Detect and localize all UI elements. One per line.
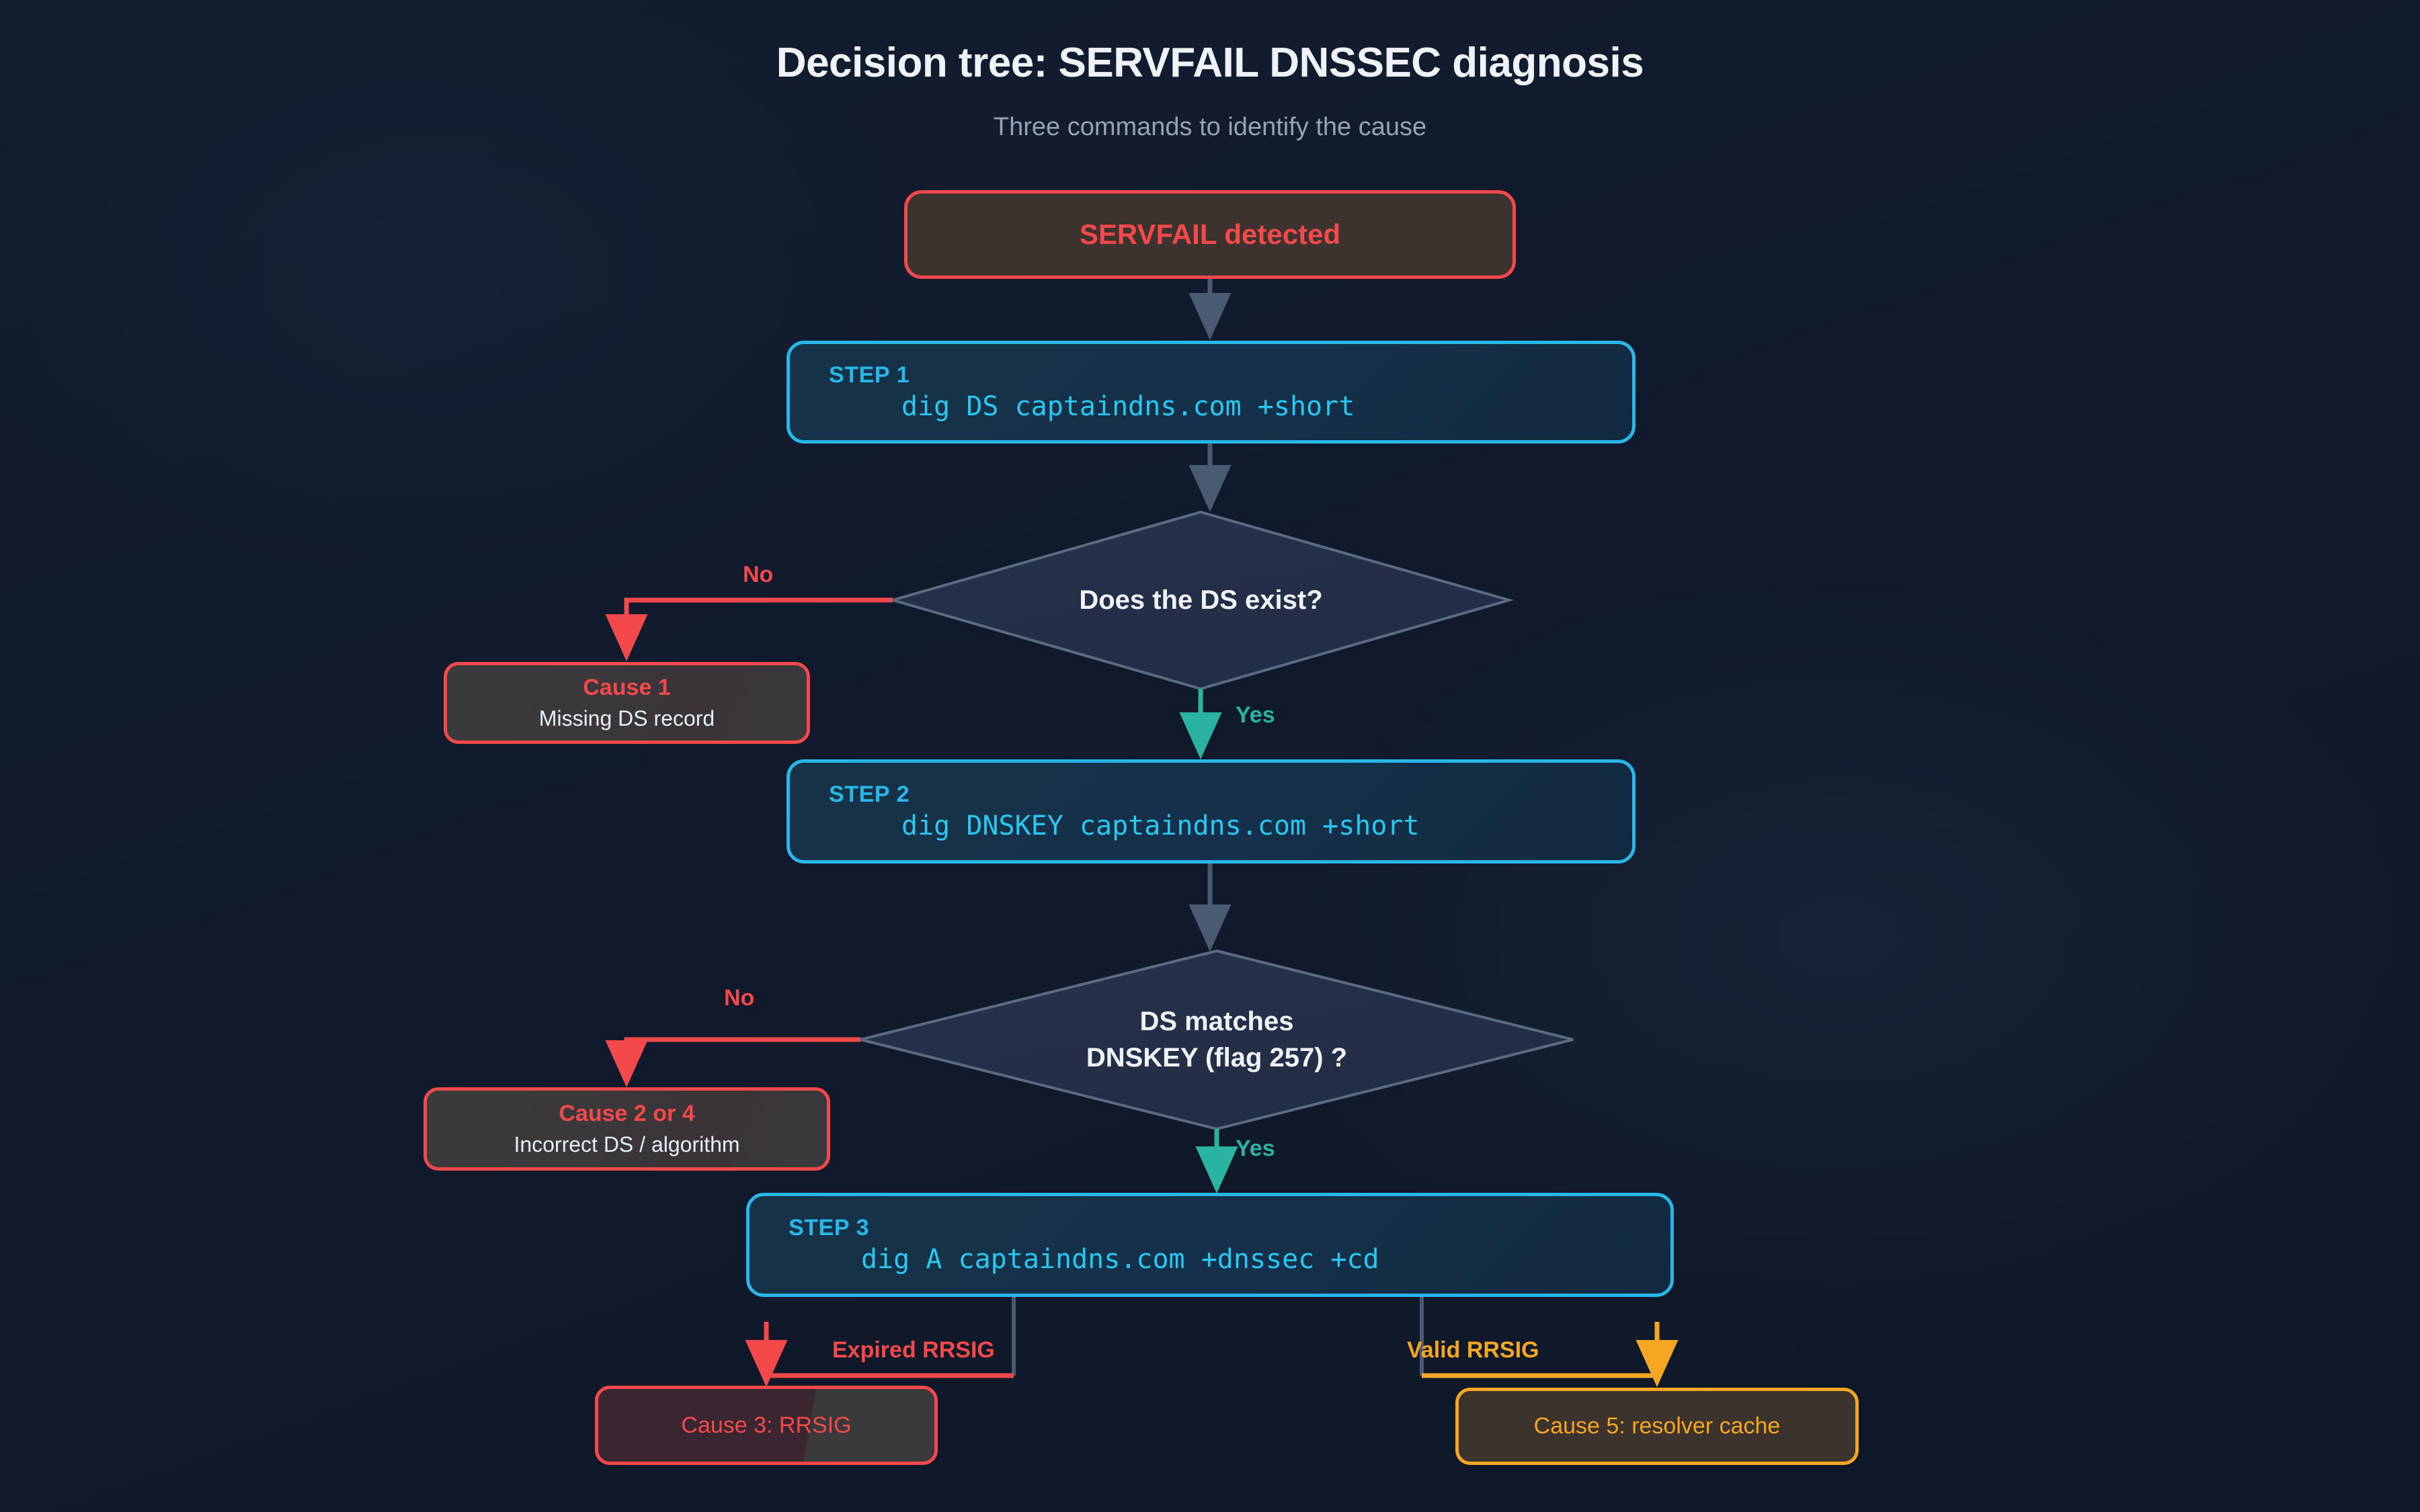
cause-5-title: Cause 5: resolver cache bbox=[1534, 1413, 1781, 1439]
step-1-command: dig DS captaindns.com +short bbox=[901, 391, 1355, 422]
edge-label-valid-rrsig: Valid RRSIG bbox=[1407, 1337, 1539, 1363]
node-cause-1[interactable]: Cause 1 Missing DS record bbox=[444, 662, 810, 744]
edge-label-yes-1: Yes bbox=[1236, 702, 1275, 728]
step-3-command: dig A captaindns.com +dnssec +cd bbox=[861, 1244, 1379, 1275]
decision-2-question-line2: DNSKEY (flag 257) ? bbox=[1086, 1040, 1347, 1076]
edge-step3-expired-to-cause3 bbox=[766, 1376, 1014, 1376]
page-title: Decision tree: SERVFAIL DNSSEC diagnosis bbox=[0, 39, 2420, 87]
node-servfail-detected[interactable]: SERVFAIL detected bbox=[904, 190, 1516, 279]
step-2-kicker: STEP 2 bbox=[829, 782, 910, 808]
edge-decision2-no-to-cause24 bbox=[627, 1040, 860, 1078]
edge-label-no-2: No bbox=[724, 985, 754, 1011]
step-3-kicker: STEP 3 bbox=[789, 1215, 869, 1241]
edge-label-no-1: No bbox=[743, 562, 773, 588]
cause-2-or-4-title: Cause 2 or 4 bbox=[559, 1101, 694, 1127]
node-servfail-label: SERVFAIL detected bbox=[1080, 218, 1340, 251]
edge-label-yes-2: Yes bbox=[1236, 1136, 1275, 1162]
node-step-3[interactable]: STEP 3 dig A captaindns.com +dnssec +cd bbox=[746, 1193, 1674, 1297]
node-step-1[interactable]: STEP 1 dig DS captaindns.com +short bbox=[787, 341, 1636, 444]
decision-2-question: DS matches DNSKEY (flag 257) ? bbox=[860, 976, 1573, 1103]
node-step-2[interactable]: STEP 2 dig DNSKEY captaindns.com +short bbox=[787, 759, 1636, 864]
cause-2-or-4-detail: Incorrect DS / algorithm bbox=[514, 1132, 739, 1157]
node-cause-3-rrsig[interactable]: Cause 3: RRSIG bbox=[595, 1386, 938, 1465]
cause-1-title: Cause 1 bbox=[583, 675, 670, 701]
cause-1-detail: Missing DS record bbox=[539, 706, 715, 731]
node-cause-5-resolver-cache[interactable]: Cause 5: resolver cache bbox=[1455, 1388, 1859, 1465]
diagram-canvas: Decision tree: SERVFAIL DNSSEC diagnosis… bbox=[0, 0, 2420, 1512]
edge-decision1-no-to-cause1 bbox=[627, 600, 893, 652]
decision-2-question-line1: DS matches bbox=[1086, 1003, 1347, 1040]
step-1-kicker: STEP 1 bbox=[829, 362, 910, 388]
cause-3-title: Cause 3: RRSIG bbox=[681, 1413, 851, 1439]
node-cause-2-or-4[interactable]: Cause 2 or 4 Incorrect DS / algorithm bbox=[424, 1087, 830, 1171]
page-subtitle: Three commands to identify the cause bbox=[0, 113, 2420, 142]
decision-1-question: Does the DS exist? bbox=[893, 538, 1509, 663]
edge-label-expired-rrsig: Expired RRSIG bbox=[832, 1337, 995, 1363]
step-2-command: dig DNSKEY captaindns.com +short bbox=[901, 810, 1420, 841]
